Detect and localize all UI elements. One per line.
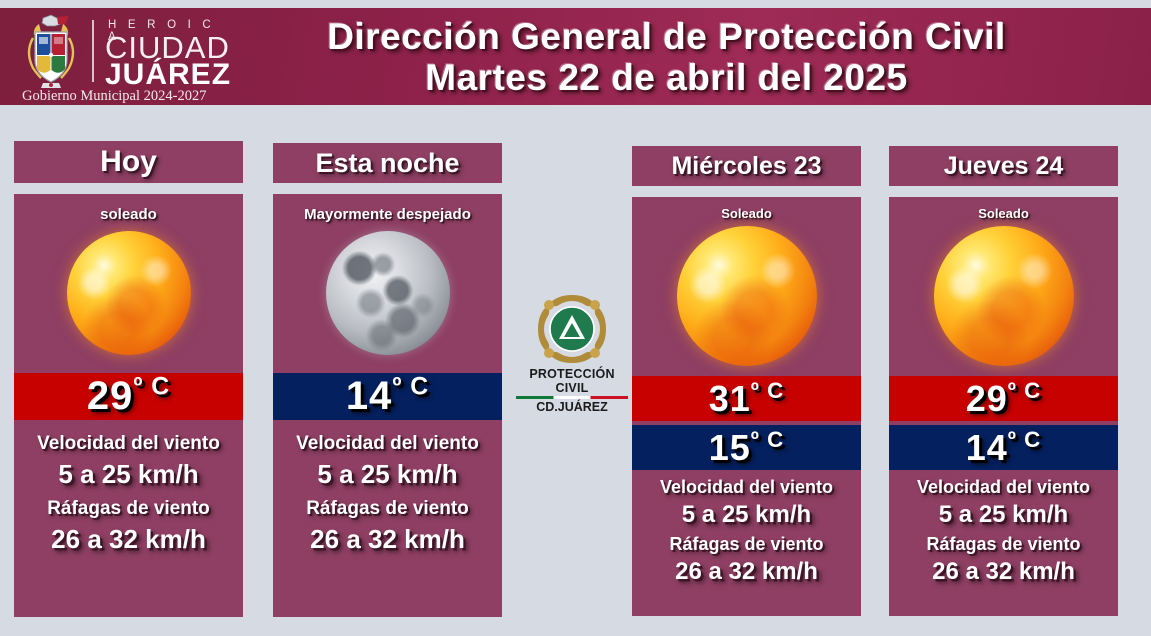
card-title-label: Esta noche bbox=[315, 148, 459, 179]
sun-icon bbox=[67, 231, 191, 355]
card-title-miercoles: Miércoles 23 bbox=[632, 146, 861, 186]
weather-icon-wrap-jueves bbox=[889, 221, 1118, 371]
forecast-card-miercoles: Miércoles 23 bbox=[632, 146, 861, 186]
temp-value-low: 15º C bbox=[709, 427, 785, 469]
wind-gusts-label-hoy: Ráfagas de viento bbox=[14, 498, 243, 520]
forecast-card-body-miercoles: Soleado 31º C 15º C Velocidad del viento… bbox=[632, 197, 861, 616]
weather-icon-wrap-esta-noche bbox=[273, 223, 502, 363]
wind-speed-value-esta-noche: 5 a 25 km/h bbox=[273, 459, 502, 490]
condition-label-miercoles: Soleado bbox=[632, 197, 861, 221]
brand-divider bbox=[92, 20, 94, 82]
forecast-card-esta-noche: Esta noche bbox=[273, 143, 502, 183]
weather-icon-wrap-hoy bbox=[14, 223, 243, 363]
card-title-hoy: Hoy bbox=[14, 141, 243, 183]
wind-gusts-value-miercoles: 26 a 32 km/h bbox=[632, 558, 861, 586]
wind-speed-label-miercoles: Velocidad del viento bbox=[632, 477, 861, 498]
sun-icon bbox=[677, 226, 817, 366]
temp-value-low: 14º C bbox=[966, 427, 1042, 469]
temp-band-high-miercoles: 31º C bbox=[632, 376, 861, 421]
brand-gobierno-label: Gobierno Municipal 2024-2027 bbox=[22, 88, 206, 105]
proteccion-civil-label: PROTECCIÓN CIVIL bbox=[512, 367, 632, 395]
page-subtitle-date: Martes 22 de abril del 2025 bbox=[222, 57, 1111, 98]
temp-band-low-miercoles: 15º C bbox=[632, 425, 861, 470]
wind-speed-label-jueves: Velocidad del viento bbox=[889, 477, 1118, 498]
temp-value-high: 29º C bbox=[87, 374, 170, 419]
wind-speed-label-esta-noche: Velocidad del viento bbox=[273, 433, 502, 455]
ciudad-juarez-coat-of-arms-icon bbox=[21, 14, 81, 92]
wind-speed-value-jueves: 5 a 25 km/h bbox=[889, 501, 1118, 529]
municipal-logo-block: H E R O I C A CIUDAD JUÁREZ Gobierno Mun… bbox=[0, 8, 222, 105]
brand-juarez-label: JUÁREZ bbox=[105, 58, 231, 92]
card-title-esta-noche: Esta noche bbox=[273, 143, 502, 183]
sun-icon bbox=[934, 226, 1074, 366]
proteccion-civil-logo: PROTECCIÓN CIVIL CD.JUÁREZ bbox=[512, 292, 632, 410]
wind-gusts-label-jueves: Ráfagas de viento bbox=[889, 534, 1118, 555]
forecast-card-body-hoy: soleado 29º C Velocidad del viento 5 a 2… bbox=[14, 194, 243, 617]
card-title-label: Jueves 24 bbox=[944, 152, 1064, 181]
wind-gusts-value-hoy: 26 a 32 km/h bbox=[14, 524, 243, 555]
card-title-jueves: Jueves 24 bbox=[889, 146, 1118, 186]
forecast-card-hoy: Hoy bbox=[14, 141, 243, 183]
forecast-card-body-jueves: Soleado 29º C 14º C Velocidad del viento… bbox=[889, 197, 1118, 616]
proteccion-civil-triangle-icon bbox=[535, 292, 609, 366]
header-band: H E R O I C A CIUDAD JUÁREZ Gobierno Mun… bbox=[0, 8, 1151, 105]
mexican-flag-divider-icon bbox=[516, 396, 628, 399]
header-title-block: Dirección General de Protección Civil Ma… bbox=[222, 16, 1151, 98]
condition-label-esta-noche: Mayormente despejado bbox=[273, 194, 502, 223]
wind-gusts-value-jueves: 26 a 32 km/h bbox=[889, 558, 1118, 586]
temp-band-low-jueves: 14º C bbox=[889, 425, 1118, 470]
temp-band-high-jueves: 29º C bbox=[889, 376, 1118, 421]
temp-band-low-esta-noche: 14º C bbox=[273, 373, 502, 420]
wind-gusts-value-esta-noche: 26 a 32 km/h bbox=[273, 524, 502, 555]
wind-speed-value-miercoles: 5 a 25 km/h bbox=[632, 501, 861, 529]
wind-gusts-label-esta-noche: Ráfagas de viento bbox=[273, 498, 502, 520]
temp-band-high-hoy: 29º C bbox=[14, 373, 243, 420]
wind-gusts-label-miercoles: Ráfagas de viento bbox=[632, 534, 861, 555]
forecast-card-jueves: Jueves 24 bbox=[889, 146, 1118, 186]
proteccion-civil-city-label: CD.JUÁREZ bbox=[512, 400, 632, 414]
card-title-label: Hoy bbox=[100, 145, 157, 179]
temp-value-low: 14º C bbox=[346, 374, 429, 419]
card-title-label: Miércoles 23 bbox=[671, 152, 821, 181]
wind-speed-value-hoy: 5 a 25 km/h bbox=[14, 459, 243, 490]
wind-speed-label-hoy: Velocidad del viento bbox=[14, 433, 243, 455]
temp-value-high: 29º C bbox=[966, 378, 1042, 420]
weather-icon-wrap-miercoles bbox=[632, 221, 861, 371]
forecast-card-body-esta-noche: Mayormente despejado 14º C Velocidad del… bbox=[273, 194, 502, 617]
condition-label-hoy: soleado bbox=[14, 194, 243, 223]
temp-value-high: 31º C bbox=[709, 378, 785, 420]
condition-label-jueves: Soleado bbox=[889, 197, 1118, 221]
page-title: Dirección General de Protección Civil bbox=[222, 16, 1111, 57]
moon-icon bbox=[326, 231, 450, 355]
